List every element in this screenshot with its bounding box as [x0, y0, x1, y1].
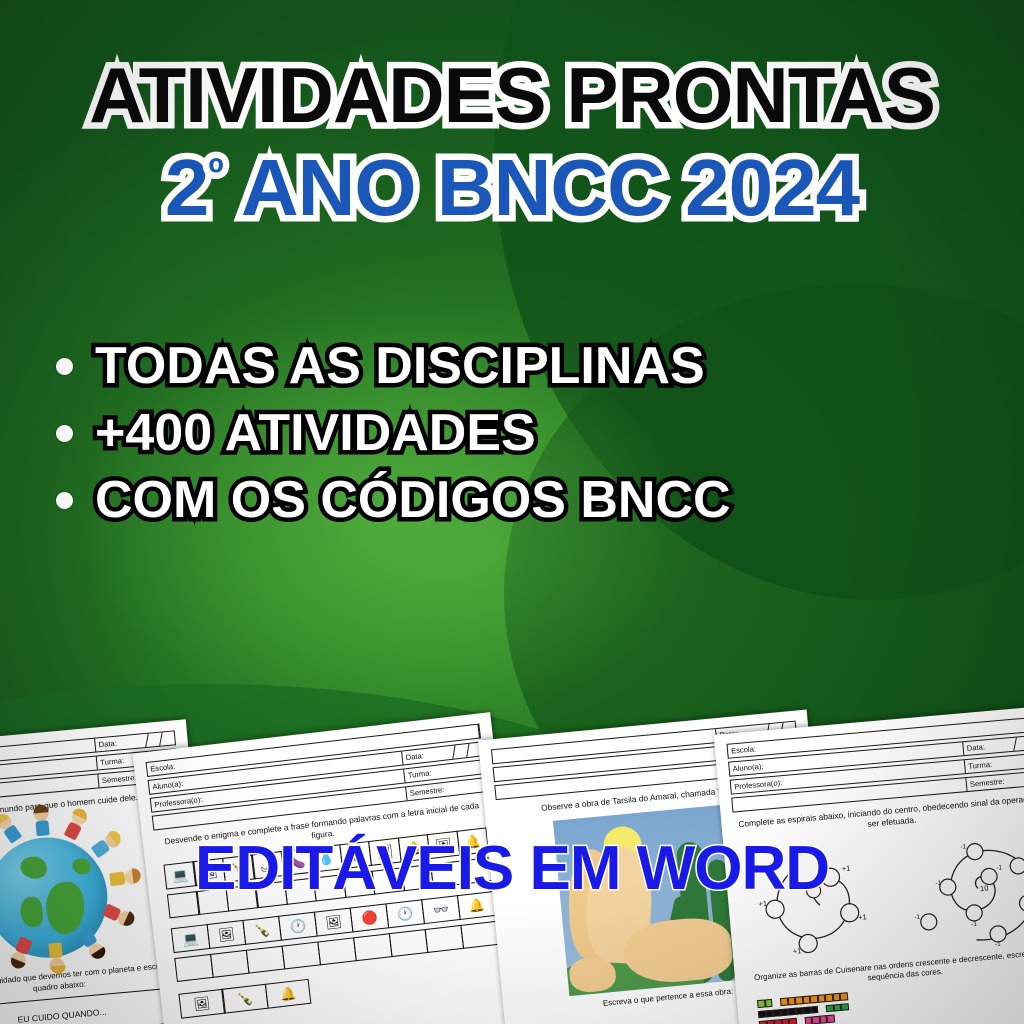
header-field-label: Turma:	[100, 756, 124, 767]
bullet-label-1: TODAS AS DISCIPLINAS	[95, 340, 705, 393]
header-field-label: Data:	[966, 742, 985, 753]
answer-cell[interactable]	[281, 941, 321, 969]
header-field-date: Data:	[963, 735, 1024, 755]
bullet-label-3: COM OS CÓDIGOS BNCC	[95, 474, 731, 527]
headline-year-number: 2	[165, 143, 209, 232]
header-field-label: Professora(o):	[154, 795, 203, 809]
cuisenaire-bar[interactable]	[759, 1018, 797, 1024]
answer-cell[interactable]: 🔔	[264, 978, 311, 1008]
headline-line-2-rest: ANO BNCC 2024	[223, 143, 860, 232]
picture-row-3-icons: 🖼 🍾 🔔	[178, 979, 310, 1019]
feature-bullet-list: TODAS AS DISCIPLINAS +400 ATIVIDADES COM…	[56, 340, 731, 541]
picture-icon-cell: 🍾	[242, 915, 282, 944]
picture-icon-cell: 🖼	[314, 907, 354, 936]
headline-block: ATIVIDADES PRONTAS 2º ANO BNCC 2024	[0, 56, 1024, 228]
answer-cell[interactable]	[353, 933, 393, 961]
editable-in-word-banner: EDITÁVEIS EM WORD	[0, 838, 1024, 900]
spiral-op-label: +1	[858, 912, 867, 922]
header-field-label: Semestre:	[409, 785, 444, 798]
picture-icon-cell: 💻	[171, 924, 211, 953]
picture-icon-cell: 🕐	[385, 899, 425, 928]
poster-canvas: ATIVIDADES PRONTAS 2º ANO BNCC 2024 TODA…	[0, 0, 1024, 1024]
list-item: COM OS CÓDIGOS BNCC	[56, 474, 731, 527]
svg-text:-1: -1	[914, 913, 921, 921]
header-field-label: Semestre:	[102, 773, 137, 785]
header-field-label: Aluno(a):	[732, 762, 763, 774]
cuisenaire-bar[interactable]	[804, 1015, 835, 1024]
answer-cell[interactable]	[317, 937, 357, 965]
answer-cell[interactable]: 🍾	[221, 983, 268, 1013]
bullet-dot-icon	[56, 358, 73, 375]
header-field-label: Escola:	[731, 744, 757, 755]
header-field-label: Professora(o):	[734, 778, 783, 791]
header-field-label: Turma:	[968, 760, 992, 771]
date-slash-icon	[1014, 735, 1024, 750]
date-slash-icon	[146, 731, 175, 746]
headline-line-2: 2º ANO BNCC 2024	[0, 148, 1024, 228]
picture-icon-cell: 🖼	[207, 920, 247, 949]
header-field-label: Escola:	[150, 762, 176, 774]
header-field-semestre: Semestre:	[966, 771, 1024, 791]
bullet-dot-icon	[56, 425, 73, 442]
header-field-label: Data:	[405, 751, 424, 762]
answer-cell[interactable]	[174, 954, 214, 982]
answer-cell[interactable]	[389, 929, 429, 957]
answer-cell[interactable]	[460, 920, 500, 948]
child-figure-icon	[31, 805, 54, 841]
header-field-label: Aluno(a):	[152, 779, 184, 791]
svg-text:-1: -1	[995, 940, 1002, 948]
headline-line-1: ATIVIDADES PRONTAS	[0, 56, 1024, 134]
picture-icon-cell: 🕐	[278, 911, 318, 940]
cuisenaire-bar[interactable]	[826, 1003, 849, 1012]
bullet-label-2: +400 ATIVIDADES	[95, 407, 536, 460]
cuisenaire-bar[interactable]	[757, 999, 773, 1008]
svg-text:-1: -1	[971, 920, 978, 928]
header-field-turma: Turma:	[965, 753, 1024, 773]
child-figure-icon	[97, 898, 136, 930]
spiral-op-label: +1	[792, 946, 801, 956]
list-item: +400 ATIVIDADES	[56, 407, 731, 460]
picture-icon-cell: 🔴	[350, 903, 390, 932]
child-figure-icon	[45, 939, 68, 975]
answer-cell[interactable]: 🖼	[178, 988, 225, 1018]
headline-ordinal-mark: º	[208, 149, 222, 196]
header-field-label: Data:	[98, 739, 117, 750]
worksheet-answer-box-label: EU CUIDO QUANDO...	[17, 1007, 107, 1024]
bullet-dot-icon	[56, 492, 73, 509]
header-field-label: Semestre:	[970, 777, 1005, 789]
answer-cell[interactable]	[246, 945, 286, 973]
header-field-label: Turma:	[407, 768, 432, 780]
list-item: TODAS AS DISCIPLINAS	[56, 340, 731, 393]
answer-cell[interactable]	[210, 949, 250, 977]
answer-cell[interactable]	[425, 925, 465, 953]
